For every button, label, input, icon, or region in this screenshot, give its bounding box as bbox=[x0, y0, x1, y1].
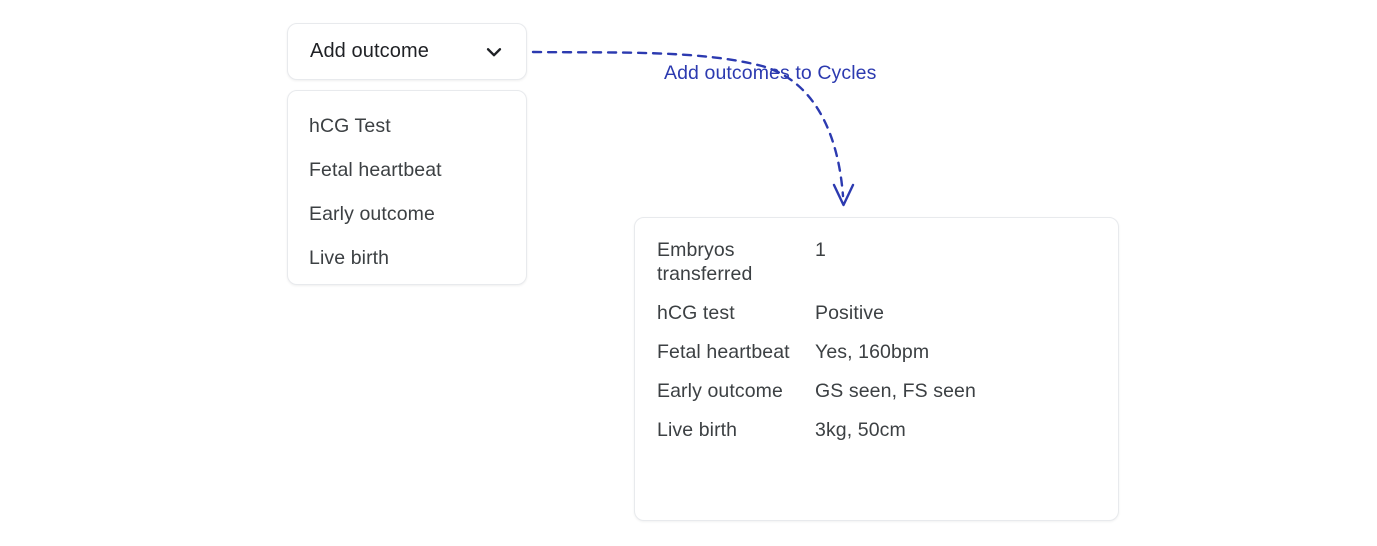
outcome-label: Embryos transferred bbox=[657, 238, 815, 286]
add-outcome-dropdown-menu[interactable]: hCG Test Fetal heartbeat Early outcome L… bbox=[287, 90, 527, 285]
canvas: Add outcome hCG Test Fetal heartbeat Ear… bbox=[0, 0, 1377, 546]
outcome-value: GS seen, FS seen bbox=[815, 379, 1096, 403]
outcome-value: Positive bbox=[815, 301, 1096, 325]
outcome-row-live-birth: Live birth 3kg, 50cm bbox=[657, 418, 1096, 442]
dropdown-item-label: Fetal heartbeat bbox=[309, 159, 442, 182]
dropdown-item-label: hCG Test bbox=[309, 115, 391, 138]
outcome-label: hCG test bbox=[657, 301, 815, 325]
add-outcome-dropdown-button[interactable]: Add outcome bbox=[287, 23, 527, 80]
outcome-value: 3kg, 50cm bbox=[815, 418, 1096, 442]
dropdown-item-label: Early outcome bbox=[309, 203, 435, 226]
dropdown-item-label: Live birth bbox=[309, 247, 389, 270]
dropdown-item-live-birth[interactable]: Live birth bbox=[288, 236, 526, 280]
outcome-label: Fetal heartbeat bbox=[657, 340, 815, 364]
outcome-row-embryos-transferred: Embryos transferred 1 bbox=[657, 238, 1096, 286]
outcome-value: 1 bbox=[815, 238, 1096, 262]
outcome-label: Live birth bbox=[657, 418, 815, 442]
add-outcome-button-label: Add outcome bbox=[310, 40, 429, 63]
chevron-down-icon[interactable] bbox=[483, 41, 505, 63]
outcome-row-hcg-test: hCG test Positive bbox=[657, 301, 1096, 325]
annotation-label: Add outcomes to Cycles bbox=[664, 62, 876, 85]
outcome-row-early-outcome: Early outcome GS seen, FS seen bbox=[657, 379, 1096, 403]
outcome-value: Yes, 160bpm bbox=[815, 340, 1096, 364]
dropdown-item-hcg-test[interactable]: hCG Test bbox=[288, 104, 526, 148]
outcome-row-fetal-heartbeat: Fetal heartbeat Yes, 160bpm bbox=[657, 340, 1096, 364]
dropdown-item-fetal-heartbeat[interactable]: Fetal heartbeat bbox=[288, 148, 526, 192]
outcome-summary-card: Embryos transferred 1 hCG test Positive … bbox=[634, 217, 1119, 521]
dropdown-item-early-outcome[interactable]: Early outcome bbox=[288, 192, 526, 236]
outcome-label: Early outcome bbox=[657, 379, 815, 403]
